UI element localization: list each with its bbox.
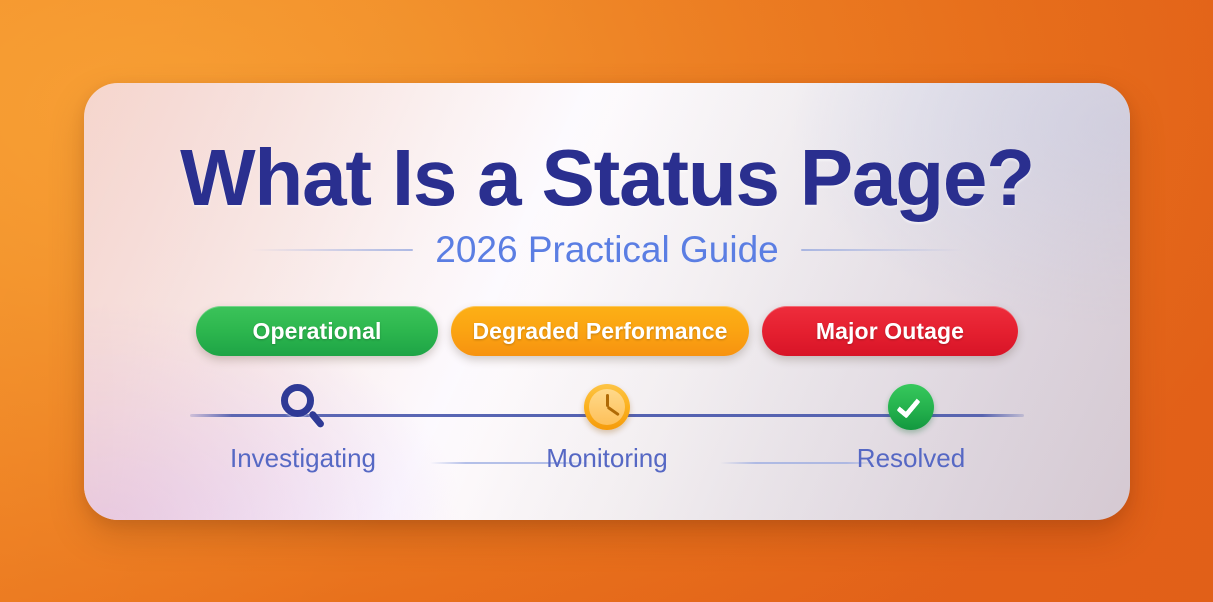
timeline-step-label-resolved: Resolved (857, 445, 965, 471)
poster-canvas: What Is a Status Page? 2026 Practical Gu… (0, 0, 1213, 602)
subtitle-rule-right (801, 249, 963, 251)
magnifier-icon (274, 378, 332, 436)
timeline-step-monitoring[interactable]: Monitoring (494, 378, 720, 471)
status-badge-operational[interactable]: Operational (196, 306, 438, 356)
status-page-card: What Is a Status Page? 2026 Practical Gu… (84, 83, 1130, 520)
check-circle-icon (882, 378, 940, 436)
status-pill-group: Operational Degraded Performance Major O… (84, 306, 1130, 356)
incident-timeline: Investigating Monitoring (190, 378, 1024, 488)
timeline-step-label-investigating: Investigating (230, 445, 376, 471)
clock-icon (578, 378, 636, 436)
page-title: What Is a Status Page? (84, 138, 1130, 218)
page-subtitle: 2026 Practical Guide (435, 231, 778, 268)
subtitle-row: 2026 Practical Guide (84, 231, 1130, 268)
timeline-step-resolved[interactable]: Resolved (798, 378, 1024, 471)
status-badge-degraded-performance[interactable]: Degraded Performance (451, 306, 749, 356)
status-badge-major-outage[interactable]: Major Outage (762, 306, 1018, 356)
timeline-step-label-monitoring: Monitoring (546, 445, 667, 471)
timeline-step-investigating[interactable]: Investigating (190, 378, 416, 471)
subtitle-rule-left (251, 249, 413, 251)
